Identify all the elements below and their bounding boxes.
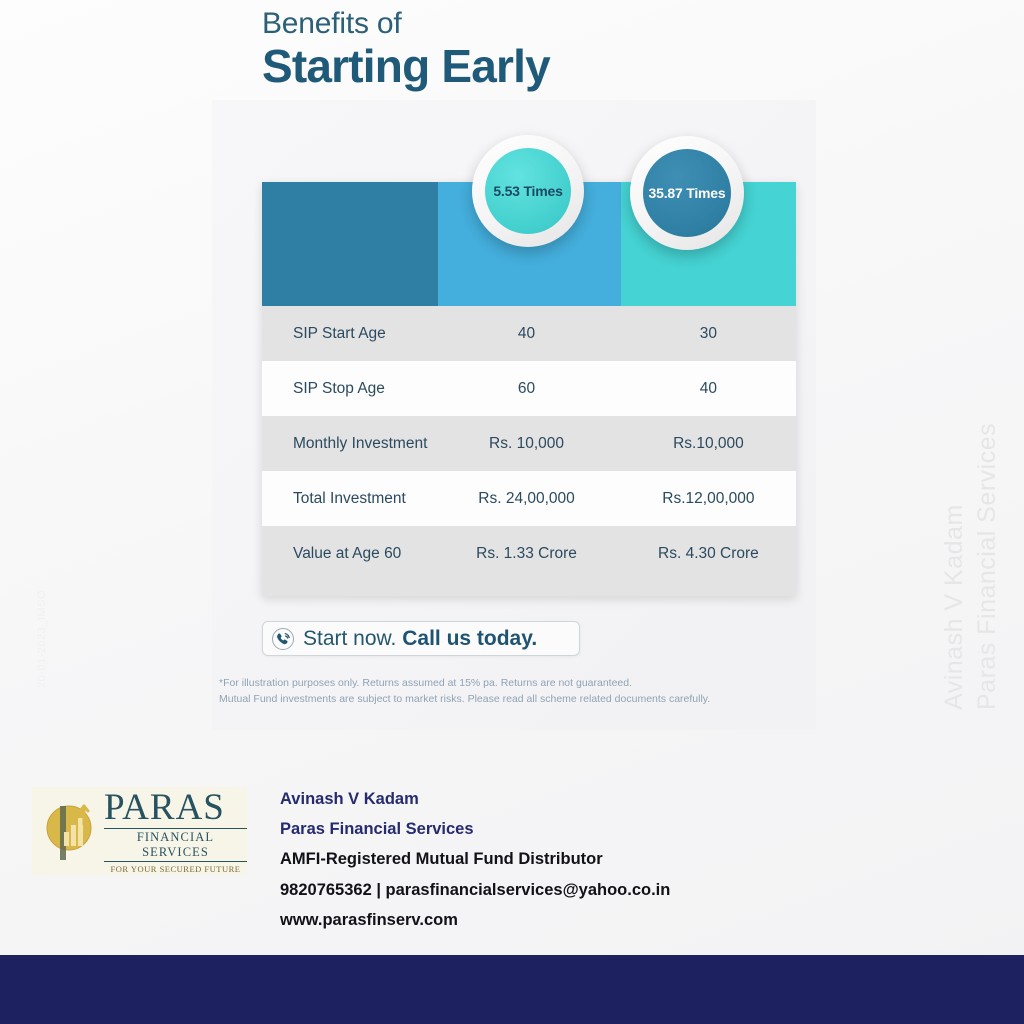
row-value-1: 40	[438, 325, 621, 343]
row-value-2: Rs. 4.30 Crore	[621, 545, 796, 563]
disclaimer: *For illustration purposes only. Returns…	[219, 675, 819, 708]
multiplier-badge-scenario-1: 5.53 Times	[472, 135, 584, 247]
headline-line-2: Starting Early	[262, 42, 782, 90]
row-label: SIP Start Age	[262, 325, 438, 343]
disclaimer-line-2: Mutual Fund investments are subject to m…	[219, 691, 819, 707]
paras-logo-mark-icon	[40, 798, 102, 864]
paras-logo-text: PARAS FINANCIAL SERVICES FOR YOUR SECURE…	[104, 789, 247, 874]
disclaimer-line-1: *For illustration purposes only. Returns…	[219, 675, 819, 691]
page-title: Benefits of Starting Early	[262, 8, 782, 90]
row-value-1: Rs. 1.33 Crore	[438, 545, 621, 563]
row-label: Value at Age 60	[262, 545, 438, 563]
logo-tagline: FOR YOUR SECURED FUTURE	[104, 864, 247, 874]
multiplier-badge-scenario-2: 35.87 Times	[630, 136, 744, 250]
contact-credential: AMFI-Registered Mutual Fund Distributor	[280, 844, 670, 874]
row-value-1: Rs. 10,000	[438, 435, 621, 453]
row-value-1: Rs. 24,00,000	[438, 490, 621, 508]
row-value-2: 30	[621, 325, 796, 343]
header-segment-label	[262, 182, 438, 306]
cta-normal-text: Start now.	[303, 627, 402, 650]
table-rows: SIP Start Age 40 30 SIP Stop Age 60 40 M…	[262, 306, 796, 596]
logo-subtitle: FINANCIAL SERVICES	[104, 828, 247, 862]
row-value-1: 60	[438, 380, 621, 398]
row-label: Total Investment	[262, 490, 438, 508]
table-footer-strip	[262, 581, 796, 596]
contact-block: Avinash V Kadam Paras Financial Services…	[280, 784, 670, 935]
row-value-2: Rs.12,00,000	[621, 490, 796, 508]
table-row: Total Investment Rs. 24,00,000 Rs.12,00,…	[262, 471, 796, 526]
contact-phone-email[interactable]: 9820765362 | parasfinancialservices@yaho…	[280, 875, 670, 905]
watermark-name: Avinash V Kadam	[940, 330, 969, 710]
vertical-watermark: Avinash V Kadam Paras Financial Services	[940, 330, 1002, 710]
contact-company: Paras Financial Services	[280, 814, 670, 844]
call-us-today-button[interactable]: Start now. Call us today.	[262, 621, 580, 656]
footer-bar	[0, 955, 1024, 1024]
row-value-2: Rs.10,000	[621, 435, 796, 453]
table-row: Monthly Investment Rs. 10,000 Rs.10,000	[262, 416, 796, 471]
paras-logo: PARAS FINANCIAL SERVICES FOR YOUR SECURE…	[32, 787, 247, 875]
multiplier-badge-label: 35.87 Times	[643, 149, 731, 237]
logo-name: PARAS	[104, 789, 247, 826]
cta-bold-text: Call us today.	[402, 627, 537, 650]
watermark-company: Paras Financial Services	[973, 330, 1002, 710]
contact-website[interactable]: www.parasfinserv.com	[280, 905, 670, 935]
poster-canvas: Benefits of Starting Early SIP Start Age…	[0, 0, 1024, 1024]
cta-label: Start now. Call us today.	[303, 627, 537, 651]
table-row: SIP Stop Age 60 40	[262, 361, 796, 416]
row-value-2: 40	[621, 380, 796, 398]
row-label: SIP Stop Age	[262, 380, 438, 398]
table-row: Value at Age 60 Rs. 1.33 Crore Rs. 4.30 …	[262, 526, 796, 581]
table-row: SIP Start Age 40 30	[262, 306, 796, 361]
row-label: Monthly Investment	[262, 435, 438, 453]
date-watermark: 20-01-2023_IMSO	[36, 590, 48, 688]
contact-name: Avinash V Kadam	[280, 784, 670, 814]
phone-call-icon	[271, 627, 295, 651]
headline-line-1: Benefits of	[262, 8, 782, 40]
multiplier-badge-label: 5.53 Times	[485, 148, 571, 234]
